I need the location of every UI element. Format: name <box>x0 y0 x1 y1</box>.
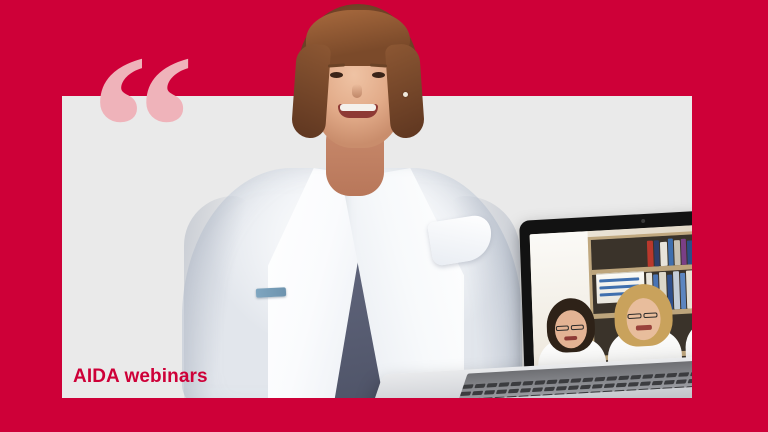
hair-side-left <box>291 43 331 139</box>
participant-left-glasses-icon <box>556 325 569 331</box>
brand-band-bottom <box>0 398 768 432</box>
quotation-mark-icon: “ <box>90 36 220 156</box>
quotation-mark-glyph: “ <box>90 23 220 233</box>
participant-left-glasses-icon-2 <box>571 325 584 331</box>
mouth <box>338 104 378 118</box>
hair-side-right <box>385 43 425 139</box>
nose <box>352 84 362 98</box>
teeth <box>340 104 376 111</box>
eye-right <box>372 72 385 78</box>
page-title: AIDA webinars <box>73 366 208 388</box>
webcam-dot-icon <box>641 219 645 223</box>
eye-left <box>330 72 343 78</box>
promo-banner: “ AIDA webinars <box>0 0 768 432</box>
participant-center-glasses-icon-2 <box>643 312 657 318</box>
brand-band-right <box>692 0 768 432</box>
earring-icon <box>403 92 408 97</box>
coat-badge <box>256 287 286 298</box>
participant-center-glasses-icon <box>627 313 641 319</box>
